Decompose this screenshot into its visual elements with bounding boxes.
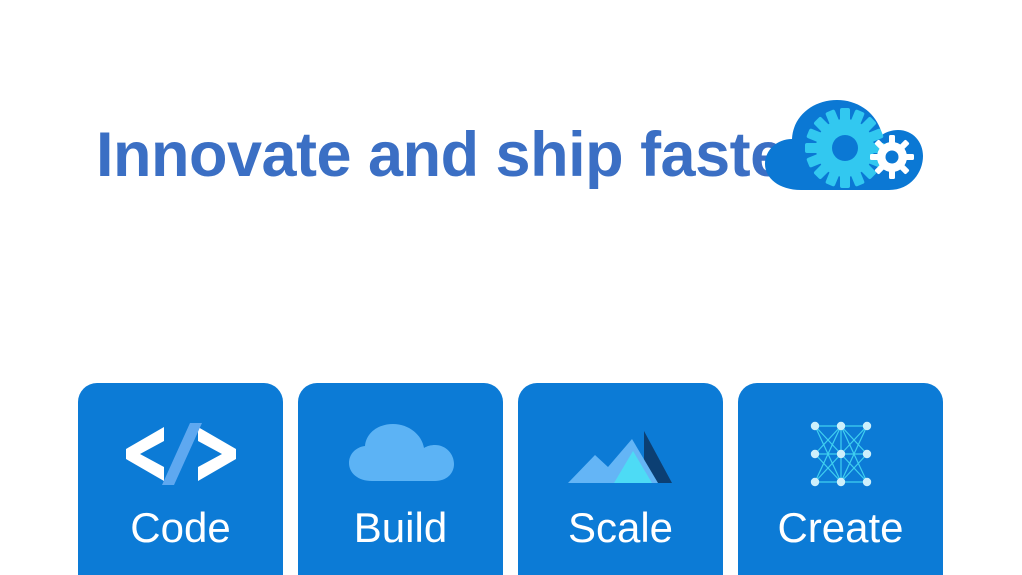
card-label: Build — [354, 507, 447, 549]
card-create[interactable]: Create — [738, 383, 943, 575]
card-label: Code — [130, 507, 230, 549]
neural-network-icon — [782, 421, 900, 487]
card-label: Create — [777, 507, 903, 549]
mountains-icon — [562, 421, 680, 487]
slide-canvas: Innovate and ship faster — [0, 0, 1022, 575]
card-scale[interactable]: Scale — [518, 383, 723, 575]
cloud-gears-icon — [757, 92, 929, 198]
cloud-icon — [342, 421, 460, 487]
page-title: Innovate and ship faster — [96, 122, 809, 188]
feature-cards-row: Code Build Scal — [78, 383, 948, 575]
card-label: Scale — [568, 507, 673, 549]
card-build[interactable]: Build — [298, 383, 503, 575]
code-brackets-icon — [122, 421, 240, 487]
card-code[interactable]: Code — [78, 383, 283, 575]
